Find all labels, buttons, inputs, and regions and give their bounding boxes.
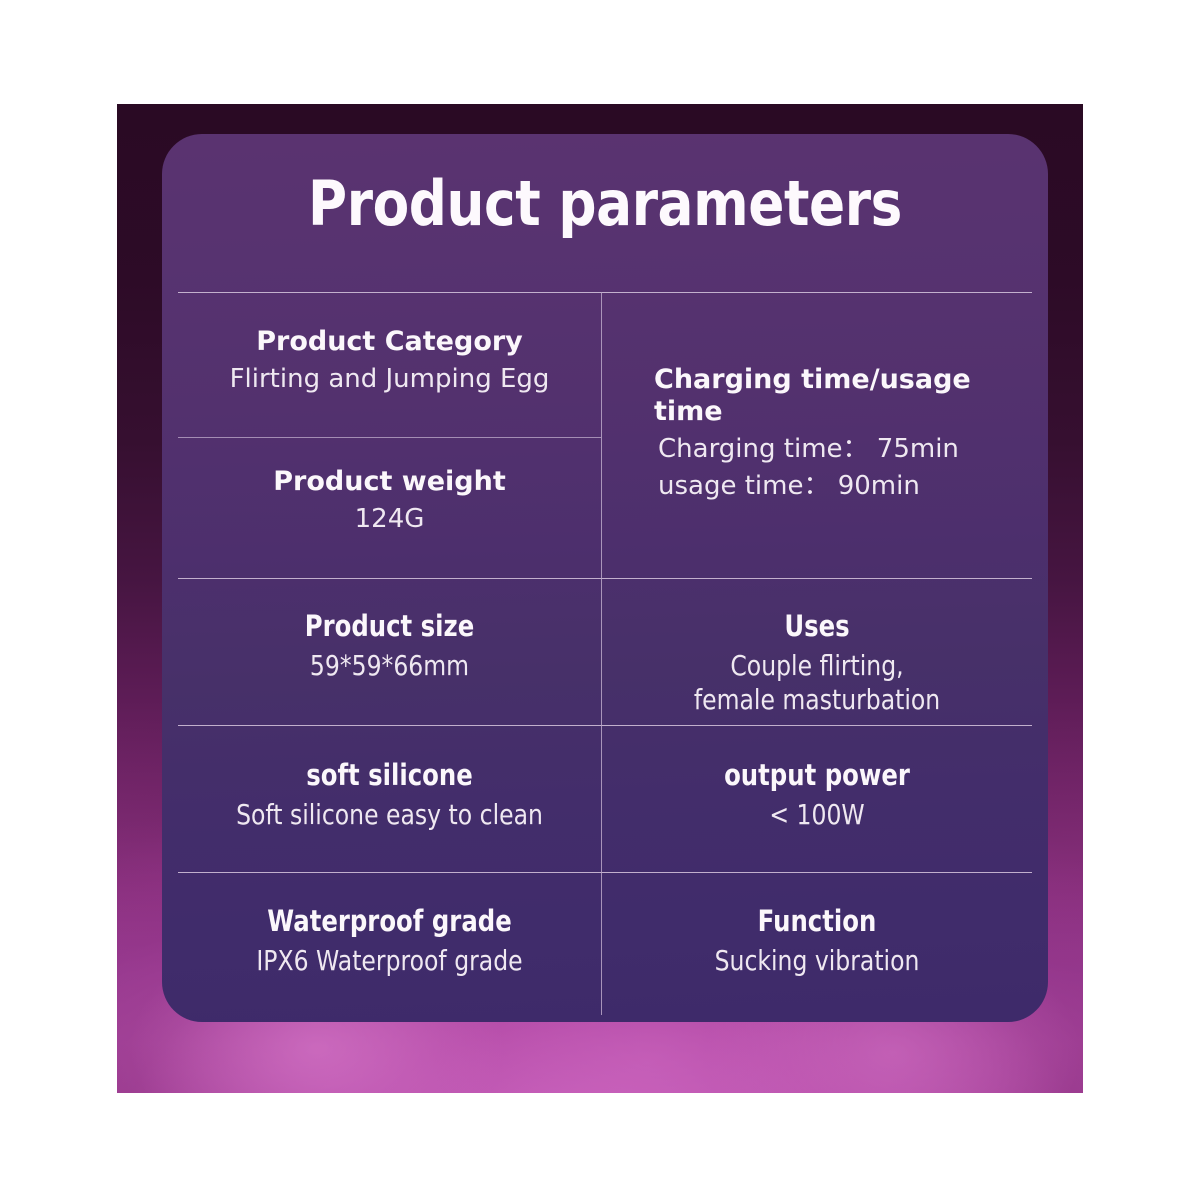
cell-label: Charging time/usage time [654,364,1032,428]
cell-product-size: Product size 59*59*66mm [178,609,601,683]
cell-output-power: output power < 100W [602,758,1032,832]
cell-waterproof-grade: Waterproof grade IPX6 Waterproof grade [178,904,601,978]
divider-left-row1 [178,437,601,438]
cell-product-category: Product Category Flirting and Jumping Eg… [178,326,601,396]
cell-label: soft silicone [212,758,567,792]
cell-label: Uses [636,609,997,643]
divider-row3 [178,725,1032,726]
page-title: Product parameters [224,170,986,238]
cell-value: Couple flirting, [636,649,997,683]
cell-value: Sucking vibration [636,944,997,978]
cell-product-weight: Product weight 124G [178,466,601,536]
cell-value: IPX6 Waterproof grade [212,944,567,978]
cell-value: usage time： 90min [654,471,1032,503]
cell-uses: Uses Couple flirting, female masturbatio… [602,609,1032,718]
cell-value: Soft silicone easy to clean [212,798,567,832]
cell-soft-silicone: soft silicone Soft silicone easy to clea… [178,758,601,832]
cell-value: < 100W [636,798,997,832]
divider-row4 [178,872,1032,873]
cell-label: Product size [212,609,567,643]
cell-function: Function Sucking vibration [602,904,1032,978]
divider-row2 [178,578,1032,579]
cell-label: Function [636,904,997,938]
parameters-card: Product parameters Product Category Flir… [162,134,1048,1022]
divider-top [178,292,1032,293]
cell-label: Waterproof grade [212,904,567,938]
cell-label: output power [636,758,997,792]
cell-charging-usage-time: Charging time/usage time Charging time： … [602,364,1032,503]
cell-value: Flirting and Jumping Egg [178,364,601,396]
infographic-stage: Product parameters Product Category Flir… [0,0,1200,1200]
cell-label: Product Category [178,326,601,358]
cell-value: female masturbation [636,683,997,717]
parameters-table: Product Category Flirting and Jumping Eg… [178,292,1032,1022]
cell-value: Charging time： 75min [654,434,1032,466]
cell-value: 59*59*66mm [212,649,567,683]
cell-value: 124G [178,504,601,536]
cell-label: Product weight [178,466,601,498]
